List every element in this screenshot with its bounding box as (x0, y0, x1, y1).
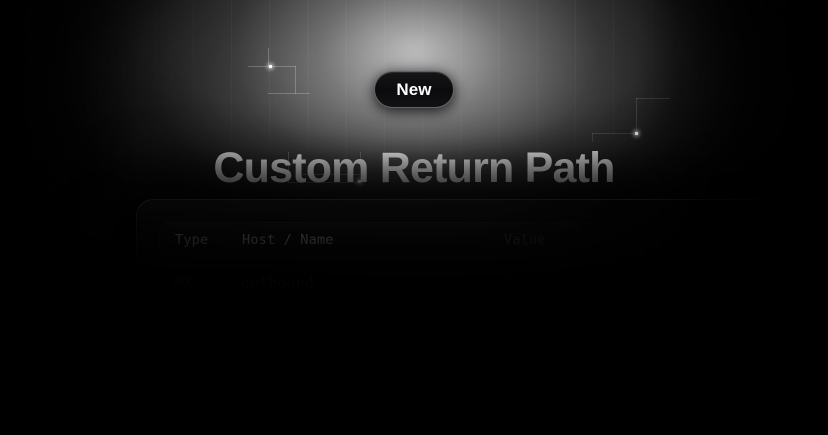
page-title: Custom Return Path (0, 142, 828, 194)
background-grid-lines (0, 0, 828, 230)
cell-host: outbound (241, 324, 503, 342)
column-header-value: Value (504, 232, 814, 248)
table-row[interactable]: MX outbound feedback-smtp (159, 258, 815, 308)
badge-container: New (0, 71, 828, 108)
table-row[interactable]: TXT resend._domainkey p=MIGfMA0GCSq (159, 358, 815, 408)
cell-type: TXT (159, 324, 241, 342)
column-header-host: Host / Name (242, 232, 504, 248)
dns-records-table: Type Host / Name Value MX outbound feedb… (159, 222, 815, 408)
cell-type: TXT (159, 374, 241, 392)
promo-banner: New Custom Return Path Type Host / Name … (0, 0, 828, 435)
table-row[interactable]: TXT outbound v=spf1 include (159, 308, 815, 358)
cell-value: v=spf1 include (503, 324, 815, 342)
cell-value: feedback-smtp (503, 274, 815, 292)
cell-host: outbound (241, 274, 503, 292)
cell-host: resend._domainkey (241, 374, 503, 392)
cell-type: MX (159, 274, 241, 292)
table-header-row: Type Host / Name Value (159, 222, 815, 258)
column-header-type: Type (160, 232, 242, 248)
new-badge: New (374, 71, 453, 108)
cell-value: p=MIGfMA0GCSq (503, 374, 815, 392)
dns-records-card: Type Host / Name Value MX outbound feedb… (136, 199, 828, 435)
